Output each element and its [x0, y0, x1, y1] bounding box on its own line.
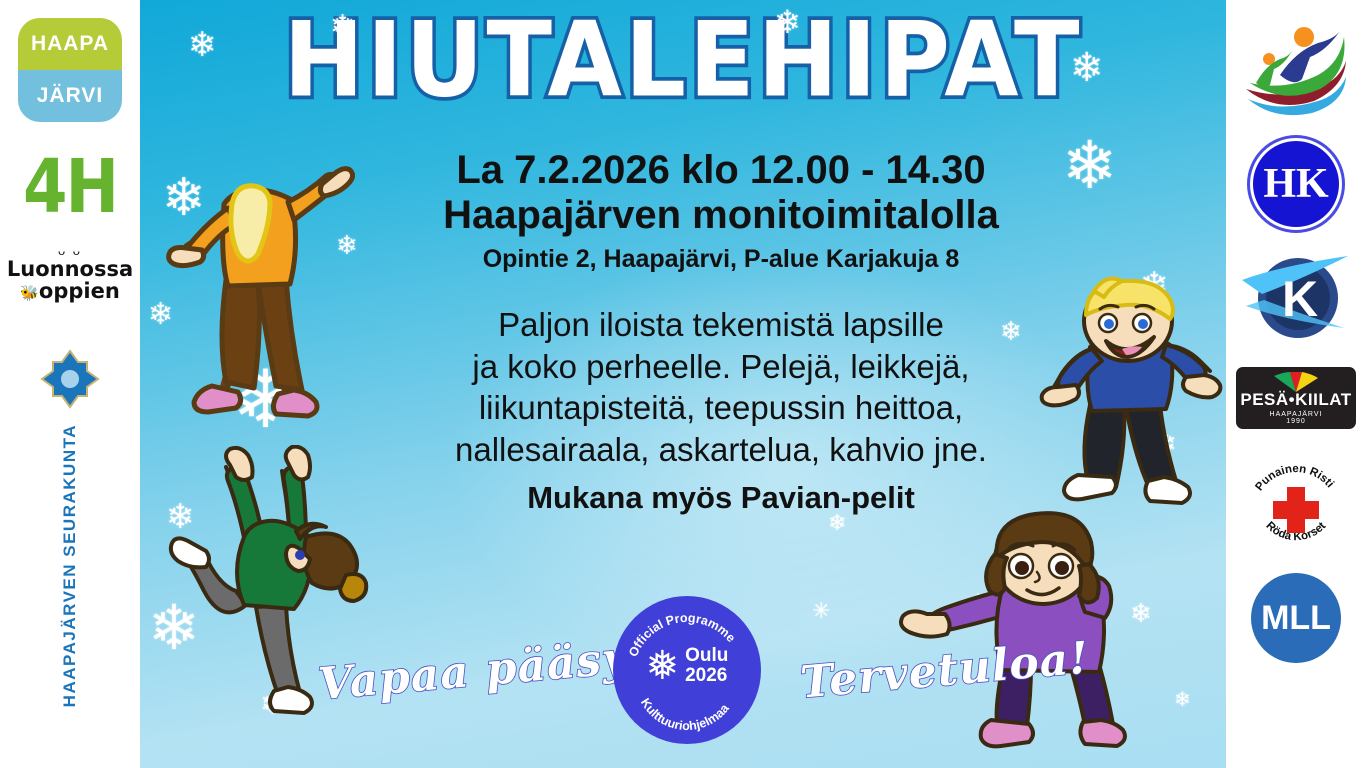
event-description: Paljon iloista tekemistä lapsille ja kok… [376, 304, 1066, 470]
punainen-risti-logo: Punainen Risti Röda Korset [1237, 450, 1355, 560]
badge-year: 2026 [685, 665, 727, 686]
bee-icon: 🐝 [20, 284, 39, 302]
haapajarvi-logo: HAAPA JÄRVI [18, 18, 122, 122]
haapajarvi-logo-bottom: JÄRVI [18, 70, 122, 122]
hk-logo: HK [1237, 132, 1355, 236]
badge-arc-bottom-text: Kulttuuriohjelmaa [638, 696, 732, 733]
luonnossa-line1: Luonnossa [7, 258, 133, 280]
oulu-2026-badge: Official Programme Kulttuuriohjelmaa ❅ O… [613, 596, 761, 744]
liikunta-logo [1237, 12, 1355, 122]
character-orange-jacket [158, 150, 373, 420]
poster-title: HIUTALEHIPAT ❄ ❄ [140, 4, 1226, 116]
hk-logo-text: HK [1250, 138, 1342, 230]
pesakiilat-name: PESÄ•KIILAT [1240, 390, 1351, 410]
poster-title-text: HIUTALEHIPAT [283, 0, 1082, 120]
badge-city: Oulu [685, 645, 728, 666]
pesakiilat-wedge-icon [1266, 372, 1326, 392]
right-sponsor-rail: HK K PESÄ•KIILAT HAAPAJÄRVI 1990 [1226, 0, 1366, 768]
pesakiilat-year: 1990 [1240, 418, 1351, 425]
event-poster: HAAPA JÄRVI 4H ᴗ ᴗ Luonnossa 🐝oppien HAA… [0, 0, 1366, 768]
birds-icon: ᴗ ᴗ [7, 244, 133, 257]
pesakiilat-logo: PESÄ•KIILAT HAAPAJÄRVI 1990 [1237, 356, 1355, 440]
description-line-1: Paljon iloista tekemistä lapsille [376, 304, 1066, 346]
left-sponsor-rail: HAAPA JÄRVI 4H ᴗ ᴗ Luonnossa 🐝oppien HAA… [0, 0, 140, 768]
haapajarvi-logo-line1: HAAPA [31, 32, 109, 56]
sparkle-icon: ✳ [812, 600, 830, 622]
title-snowflake-icon: ❄ [330, 12, 355, 42]
kiekko-letter: K [1282, 271, 1318, 327]
haapajarvi-logo-line2: JÄRVI [37, 84, 103, 108]
description-line-4: nallesairaala, askartelua, kahvio jne. [376, 429, 1066, 471]
kiekko-k-icon: K [1240, 250, 1352, 342]
fourh-logo: 4H [23, 151, 117, 225]
seurakunta-label: HAAPAJÄRVEN SEURAKUNTA [60, 424, 80, 707]
haapajarvi-logo-top: HAAPA [18, 18, 122, 70]
pesakiilat-city: HAAPAJÄRVI [1240, 411, 1351, 418]
snowflake-icon: ❄ [1062, 132, 1117, 198]
red-cross-icon: Punainen Risti Röda Korset [1241, 453, 1351, 558]
seurakunta-logo: HAAPAJÄRVEN SEURAKUNTA [39, 348, 101, 707]
snowflake-icon: ❄ [1174, 690, 1191, 710]
event-address-line: Opintie 2, Haapajärvi, P-alue Karjakuja … [376, 241, 1066, 279]
mll-logo-text: MLL [1251, 573, 1341, 663]
luonnossa-line2: 🐝oppien [7, 280, 133, 302]
event-venue-line: Haapajärven monitoimitalolla [376, 193, 1066, 238]
cross-icon [39, 348, 101, 410]
mll-logo: MLL [1237, 570, 1355, 666]
description-line-2: ja koko perheelle. Pelejä, leikkejä, [376, 346, 1066, 388]
event-extra-line: Mukana myös Pavian-pelit [376, 480, 1066, 516]
running-figures-icon [1240, 17, 1352, 117]
badge-snowflake-icon: ❅ [646, 646, 680, 686]
luonnossa-oppien-logo: ᴗ ᴗ Luonnossa 🐝oppien [7, 244, 133, 302]
luonnossa-line2-text: oppien [39, 279, 120, 303]
event-date-line: La 7.2.2026 klo 12.00 - 14.30 [376, 148, 1066, 193]
description-line-3: liikuntapisteitä, teepussin heittoa, [376, 387, 1066, 429]
title-snowflake-icon: ❄ [774, 6, 801, 38]
poster-canvas: ❄ ❄ ❄ ❄ ❄ ❄ ❄ ❄ ❄ ❄ ❄ ❄ ❄ ❄ ❄ ❄ ❄ ❄ ✳ [140, 0, 1226, 768]
svg-text:Kulttuuriohjelmaa: Kulttuuriohjelmaa [638, 696, 732, 733]
poster-text-block: La 7.2.2026 klo 12.00 - 14.30 Haapajärve… [376, 148, 1066, 516]
character-purple-coat-girl [885, 508, 1135, 768]
kiekko-logo: K [1237, 246, 1355, 346]
